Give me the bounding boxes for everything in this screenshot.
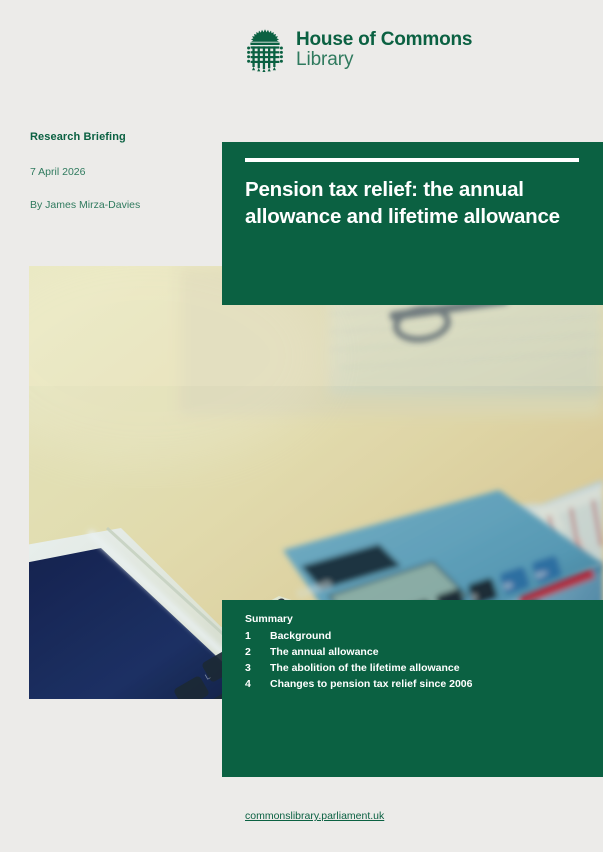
portcullis-crown-icon — [245, 28, 285, 72]
contents-item-3[interactable]: 3 The abolition of the lifetime allowanc… — [245, 661, 585, 677]
wordmark: House of Commons Library — [296, 30, 472, 70]
commonslibrary-website-link[interactable]: commonslibrary.parliament.uk — [245, 810, 384, 822]
contents-label: The abolition of the lifetime allowance — [270, 661, 585, 677]
contents-number: 1 — [245, 629, 270, 645]
briefing-cover-page: House of Commons Library Research Briefi… — [0, 0, 603, 852]
contents-number: 3 — [245, 661, 270, 677]
page-title: Pension tax relief: the annual allowance… — [245, 176, 579, 230]
contents-item-1[interactable]: 1 Background — [245, 629, 585, 645]
contents-number: 4 — [245, 677, 270, 693]
document-type-label: Research Briefing — [30, 131, 210, 143]
contents-label: The annual allowance — [270, 645, 585, 661]
author-byline: By James Mirza-Davies — [30, 199, 210, 211]
publication-date: 7 April 2026 — [30, 166, 210, 178]
masthead: House of Commons Library — [245, 28, 472, 72]
wordmark-line-2: Library — [296, 50, 472, 70]
document-metadata: Research Briefing 7 April 2026 By James … — [30, 131, 210, 211]
title-rule — [245, 158, 579, 162]
wordmark-line-1: House of Commons — [296, 30, 472, 50]
contents-label: Background — [270, 629, 585, 645]
contents-number: 2 — [245, 645, 270, 661]
contents-label: Changes to pension tax relief since 2006 — [270, 677, 585, 693]
contents-item-4[interactable]: 4 Changes to pension tax relief since 20… — [245, 677, 585, 693]
contents-item-2[interactable]: 2 The annual allowance — [245, 645, 585, 661]
summary-heading: Summary — [245, 612, 585, 628]
title-panel: Pension tax relief: the annual allowance… — [222, 142, 603, 305]
summary-panel: Summary 1 Background 2 The annual allowa… — [222, 600, 603, 777]
